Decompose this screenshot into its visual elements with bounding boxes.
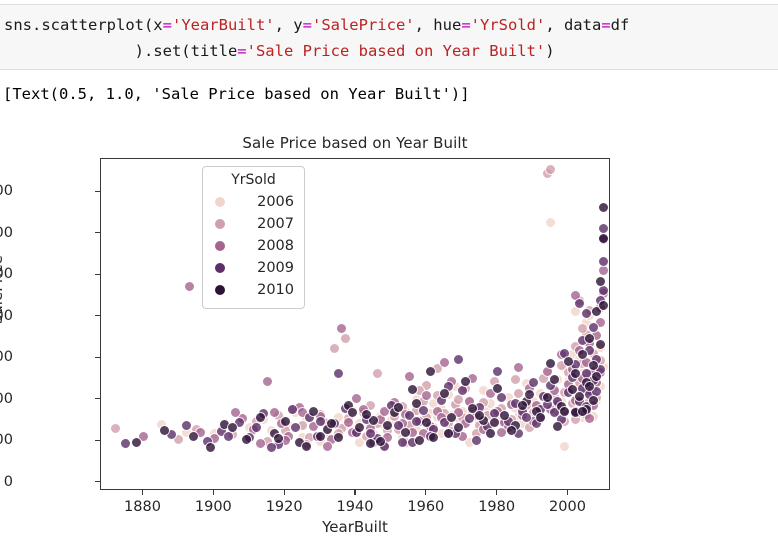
scatter-point [521,412,532,423]
scatter-point [273,433,284,444]
code-token: = [601,16,610,34]
scatter-point [464,413,475,424]
scatter-point [329,343,340,354]
code-token: sns.scatterplot(x [4,16,163,34]
scatter-point [496,392,507,403]
scatter-point [584,333,595,344]
scatter-point [588,395,599,406]
scatter-point [251,422,262,433]
scatter-point [326,418,337,429]
x-axis-label: YearBuilt [100,518,610,536]
code-line-1: sns.scatterplot(x='YearBuilt', y='SalePr… [4,12,778,38]
scatter-point [372,368,383,379]
scatter-point [393,402,404,413]
scatter-point [287,404,298,415]
x-tick-label: 1960 [407,499,444,515]
y-tick-label: 600000 [0,225,13,241]
legend-item[interactable]: 2007 [211,213,296,235]
y-tick-label: 300000 [0,349,13,365]
scatter-point [517,400,528,411]
scatter-point [290,422,301,433]
code-token: 'YearBuilt' [172,16,275,34]
scatter-point [333,432,344,443]
scatter-point [184,281,195,292]
scatter-point [205,442,216,453]
y-tick-label: 100000 [0,432,13,448]
scatter-point [545,217,556,228]
scatter-point [315,431,326,442]
chart-title: Sale Price based on Year Built [100,134,610,152]
x-tick-mark [213,490,214,495]
scatter-point [563,356,574,367]
x-tick-label: 1920 [266,499,303,515]
scatter-point [262,376,273,387]
scatter-point [354,422,365,433]
scatter-point [496,427,507,438]
scatter-point [443,428,454,439]
scatter-point [120,438,131,449]
legend-item-label: 2009 [257,260,296,276]
legend-item-label: 2008 [257,238,296,254]
scatter-point [411,398,422,409]
scatter-point [471,435,482,446]
scatter-point [425,366,436,377]
chart-legend[interactable]: YrSold 20062007200820092010 [202,166,305,309]
scatter-point [574,298,585,309]
scatter-point [241,434,252,445]
scatter-point [598,300,609,311]
legend-item-label: 2010 [257,282,296,298]
scatter-points-layer [101,159,609,489]
scatter-point [581,308,592,319]
scatter-point [365,438,376,449]
x-tick-mark [284,490,285,495]
scatter-point [595,276,606,287]
legend-item[interactable]: 2008 [211,235,296,257]
legend-swatch-icon [215,263,225,273]
scatter-point [400,427,411,438]
x-tick-mark [142,490,143,495]
legend-swatch-icon [215,285,225,295]
code-token: = [461,16,470,34]
code-token: df [611,16,630,34]
scatter-point [411,416,422,427]
code-token: = [163,16,172,34]
scatter-point [542,392,553,403]
notebook-code-cell[interactable]: sns.scatterplot(x='YearBuilt', y='SalePr… [0,4,778,70]
scatter-point [559,441,570,452]
y-tick-label: 200000 [0,391,13,407]
code-line-2: ).set(title='Sale Price based on Year Bu… [4,38,778,64]
scatter-point [397,437,408,448]
scatter-point [499,410,510,421]
scatter-point [343,417,354,428]
scatter-point [485,428,496,439]
y-tick-label: 700000 [0,183,13,199]
cell-text-output: [Text(0.5, 1.0, 'Sale Price based on Yea… [3,84,470,104]
code-token: ).set(title [4,42,237,60]
plot-axes [100,158,610,490]
scatter-point [255,412,266,423]
code-token: 'Sale Price based on Year Built' [247,42,546,60]
scatter-point [227,422,238,433]
scatter-point [510,374,521,385]
scatter-point [280,416,291,427]
scatter-point [453,354,464,365]
x-tick-label: 1980 [478,499,515,515]
scatter-point [347,407,358,418]
legend-swatch-icon [215,241,225,251]
x-tick-mark [354,490,355,495]
y-tick-label: 500000 [0,266,13,282]
scatter-point [266,442,277,453]
scatter-point [528,377,539,388]
x-tick-label: 2000 [549,499,586,515]
scatter-point [577,406,588,417]
code-token: , data [545,16,601,34]
code-token: , y [275,16,303,34]
scatter-point [439,357,450,368]
legend-swatch-icon [215,197,225,207]
scatter-point [131,437,142,448]
y-tick-label: 400000 [0,308,13,324]
scatter-point [545,164,556,175]
matplotlib-figure: Sale Price based on Year Built SalePrice… [0,118,700,548]
code-token: 'YrSold' [471,16,546,34]
legend-title: YrSold [211,172,296,188]
code-token: 'SalePrice' [312,16,415,34]
legend-rows: 20062007200820092010 [211,191,296,301]
scatter-point [577,323,588,334]
scatter-point [110,423,121,434]
scatter-point [492,383,503,394]
scatter-point [322,441,333,452]
scatter-point [439,388,450,399]
scatter-point [588,322,599,333]
legend-item[interactable]: 2006 [211,191,296,213]
scatter-point [552,421,563,432]
x-tick-mark [496,490,497,495]
legend-swatch-icon [215,219,225,229]
x-tick-label: 1900 [195,499,232,515]
scatter-point [545,358,556,369]
scatter-point [598,256,609,267]
x-tick-mark [425,490,426,495]
scatter-point [333,368,344,379]
scatter-point [181,420,192,431]
code-token: = [237,42,246,60]
scatter-point [588,360,599,371]
scatter-point [301,441,312,452]
scatter-point [428,432,439,443]
legend-item-label: 2007 [257,216,296,232]
scatter-point [414,435,425,446]
scatter-point [598,202,609,213]
x-tick-label: 1940 [337,499,374,515]
scatter-point [340,333,351,344]
x-tick-label: 1880 [124,499,161,515]
scatter-point [404,371,415,382]
legend-item[interactable]: 2010 [211,279,296,301]
x-tick-mark [567,490,568,495]
code-token: = [303,16,312,34]
scatter-point [574,391,585,402]
scatter-point [188,431,199,442]
scatter-point [421,417,432,428]
scatter-point [513,362,524,373]
scatter-point [308,406,319,417]
y-tick-label: 0 [4,474,13,490]
code-token: , hue [415,16,462,34]
scatter-point [492,366,503,377]
code-token: ) [545,42,554,60]
scatter-point [255,438,266,449]
scatter-point [407,384,418,395]
legend-item-label: 2006 [257,194,296,210]
legend-item[interactable]: 2009 [211,257,296,279]
